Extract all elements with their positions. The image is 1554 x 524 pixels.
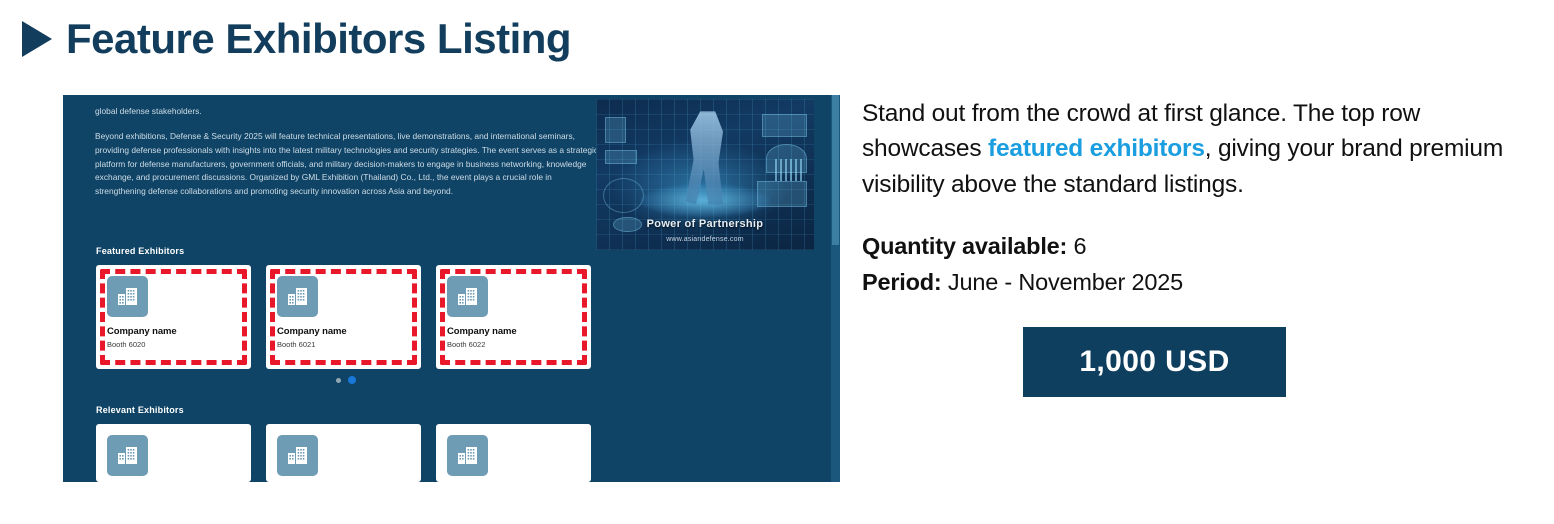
featured-exhibitor-card[interactable]: Company name Booth 6020 [96, 265, 251, 369]
hero-caption: Power of Partnership [596, 218, 814, 230]
triangle-right-icon [22, 21, 52, 57]
hero-glow-disc [640, 184, 771, 217]
hero-hud-bars [775, 159, 806, 180]
featured-exhibitors-label: Featured Exhibitors [96, 246, 184, 256]
relevant-exhibitor-card[interactable] [96, 424, 251, 482]
hero-url: www.asiandefense.com [596, 236, 814, 243]
relevant-exhibitor-card[interactable] [436, 424, 591, 482]
copy-paragraph-1: global defense stakeholders. [95, 105, 600, 119]
quantity-value: 6 [1074, 233, 1087, 259]
details-block: Quantity available: 6 Period: June - Nov… [862, 228, 1522, 301]
period-line: Period: June - November 2025 [862, 264, 1522, 300]
building-icon [107, 276, 148, 317]
description-paragraph: Stand out from the crowd at first glance… [862, 96, 1522, 202]
copy-paragraph-2: Beyond exhibitions, Defense & Security 2… [95, 130, 600, 199]
quantity-label: Quantity available: [862, 233, 1067, 259]
building-icon [447, 276, 488, 317]
exhibitor-name: Company name [277, 326, 347, 337]
quantity-line: Quantity available: 6 [862, 228, 1522, 264]
hero-hud-block [605, 117, 627, 143]
pagination-dot[interactable] [336, 378, 341, 383]
description-highlight: featured exhibitors [988, 135, 1205, 162]
featured-exhibitor-card[interactable]: Company name Booth 6021 [266, 265, 421, 369]
exhibitor-booth: Booth 6022 [447, 340, 485, 349]
relevant-exhibitor-card[interactable] [266, 424, 421, 482]
building-icon [107, 435, 148, 476]
description-column: Stand out from the crowd at first glance… [862, 96, 1522, 397]
screenshot-body-copy: global defense stakeholders. Beyond exhi… [95, 105, 600, 199]
building-icon [447, 435, 488, 476]
hero-banner-image: Power of Partnership www.asiandefense.co… [596, 99, 814, 250]
exhibitor-booth: Booth 6021 [277, 340, 315, 349]
pagination-dot-active[interactable] [348, 376, 356, 384]
period-value: June - November 2025 [948, 269, 1183, 295]
hero-hud-block [605, 150, 638, 164]
product-screenshot-panel: global defense stakeholders. Beyond exhi… [63, 95, 840, 482]
price-area: 1,000 USD [862, 327, 1447, 397]
exhibitor-booth: Booth 6020 [107, 340, 145, 349]
hero-hud-dial [603, 178, 644, 213]
relevant-exhibitors-label: Relevant Exhibitors [96, 405, 184, 415]
building-icon [277, 435, 318, 476]
relevant-exhibitors-row [96, 424, 591, 482]
panel-scrollbar-track[interactable] [831, 95, 840, 482]
carousel-pagination[interactable] [96, 376, 596, 384]
building-icon [277, 276, 318, 317]
price-badge: 1,000 USD [1023, 327, 1285, 397]
page-title: Feature Exhibitors Listing [22, 18, 571, 60]
featured-exhibitors-row: Company name Booth 6020 [96, 265, 591, 369]
hero-hud-block [762, 114, 808, 137]
page-title-text: Feature Exhibitors Listing [66, 18, 571, 60]
exhibitor-name: Company name [447, 326, 517, 337]
exhibitor-name: Company name [107, 326, 177, 337]
featured-exhibitor-card[interactable]: Company name Booth 6022 [436, 265, 591, 369]
period-label: Period: [862, 269, 942, 295]
panel-scrollbar-thumb[interactable] [832, 95, 839, 245]
